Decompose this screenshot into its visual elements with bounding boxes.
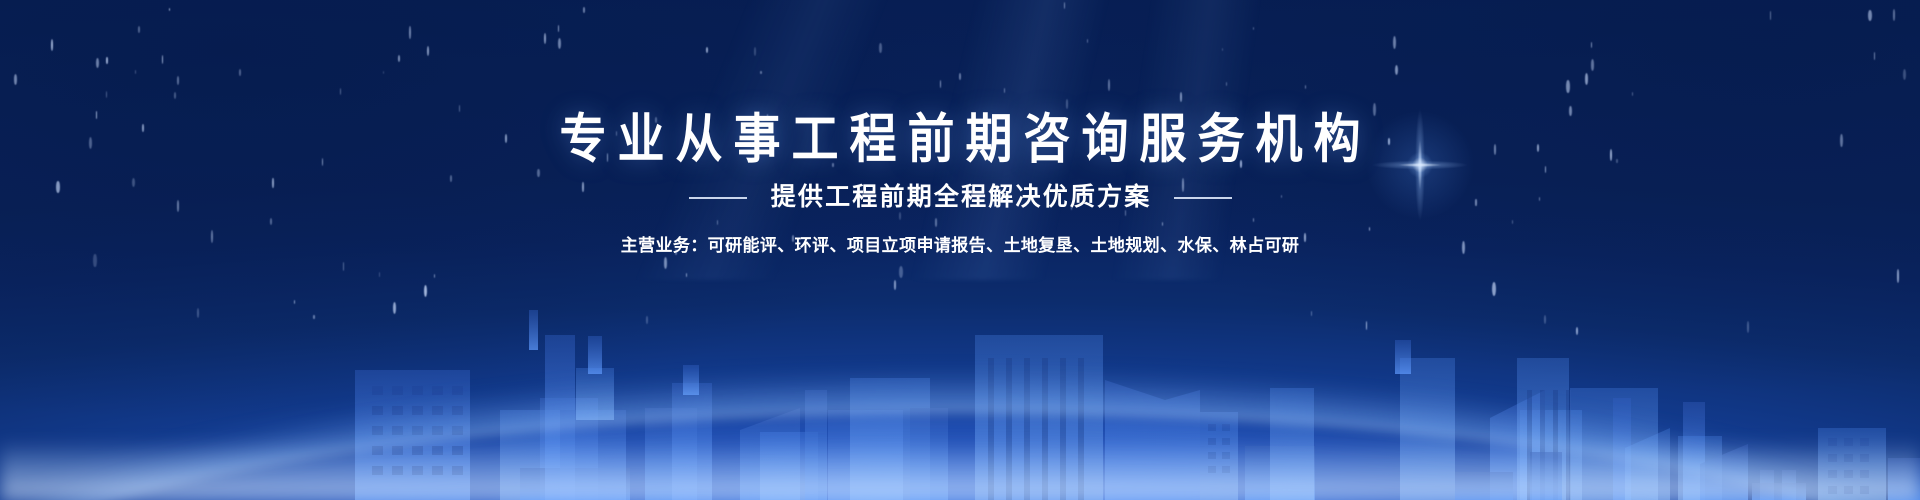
star-icon bbox=[1566, 80, 1570, 94]
star-icon bbox=[1180, 92, 1182, 102]
star-icon bbox=[51, 39, 53, 51]
star-icon bbox=[14, 74, 18, 85]
star-icon bbox=[760, 71, 761, 74]
hero-banner: 专业从事工程前期咨询服务机构 提供工程前期全程解决优质方案 主营业务：可研能评、… bbox=[0, 0, 1920, 500]
star-icon bbox=[616, 131, 617, 136]
star-icon bbox=[1893, 9, 1896, 21]
star-icon bbox=[1182, 178, 1184, 192]
star-icon bbox=[832, 163, 833, 168]
star-icon bbox=[1591, 59, 1595, 71]
star-icon bbox=[1539, 197, 1540, 201]
star-icon bbox=[142, 124, 144, 133]
star-icon bbox=[138, 26, 140, 33]
star-icon bbox=[272, 178, 273, 188]
star-icon bbox=[239, 69, 241, 75]
star-icon bbox=[135, 70, 136, 75]
star-icon bbox=[1395, 65, 1398, 75]
star-icon bbox=[1064, 2, 1065, 10]
star-icon bbox=[940, 80, 941, 88]
star-icon bbox=[1868, 10, 1872, 21]
star-icon bbox=[106, 57, 108, 64]
star-icon bbox=[1158, 126, 1159, 129]
star-icon bbox=[1545, 166, 1546, 173]
star-icon bbox=[1840, 134, 1843, 148]
star-icon bbox=[409, 26, 411, 39]
star-icon bbox=[959, 73, 961, 80]
star-icon bbox=[935, 218, 938, 227]
star-icon bbox=[56, 181, 59, 193]
star-icon bbox=[879, 43, 882, 53]
star-icon bbox=[1616, 159, 1617, 163]
star-icon bbox=[1240, 160, 1242, 168]
star-icon bbox=[1226, 82, 1227, 86]
star-icon bbox=[89, 137, 92, 149]
star-icon bbox=[1108, 79, 1110, 92]
star-icon bbox=[1475, 199, 1476, 205]
star-icon bbox=[96, 58, 99, 68]
star-icon bbox=[1393, 36, 1396, 49]
star-icon bbox=[1591, 42, 1592, 48]
star-icon bbox=[754, 47, 756, 56]
star-icon bbox=[1066, 99, 1069, 109]
star-icon bbox=[459, 105, 460, 112]
star-icon bbox=[322, 158, 323, 166]
star-icon bbox=[1004, 88, 1005, 93]
star-icon bbox=[1569, 106, 1572, 117]
star-icon bbox=[1373, 103, 1376, 116]
star-icon bbox=[537, 169, 540, 177]
star-icon bbox=[1388, 138, 1390, 145]
star-icon bbox=[174, 92, 176, 99]
star-icon bbox=[177, 200, 180, 212]
star-icon bbox=[582, 182, 584, 192]
star-icon bbox=[767, 114, 768, 118]
star-icon bbox=[544, 33, 546, 44]
star-icon bbox=[706, 47, 708, 53]
city-skyline-icon bbox=[0, 240, 1920, 500]
